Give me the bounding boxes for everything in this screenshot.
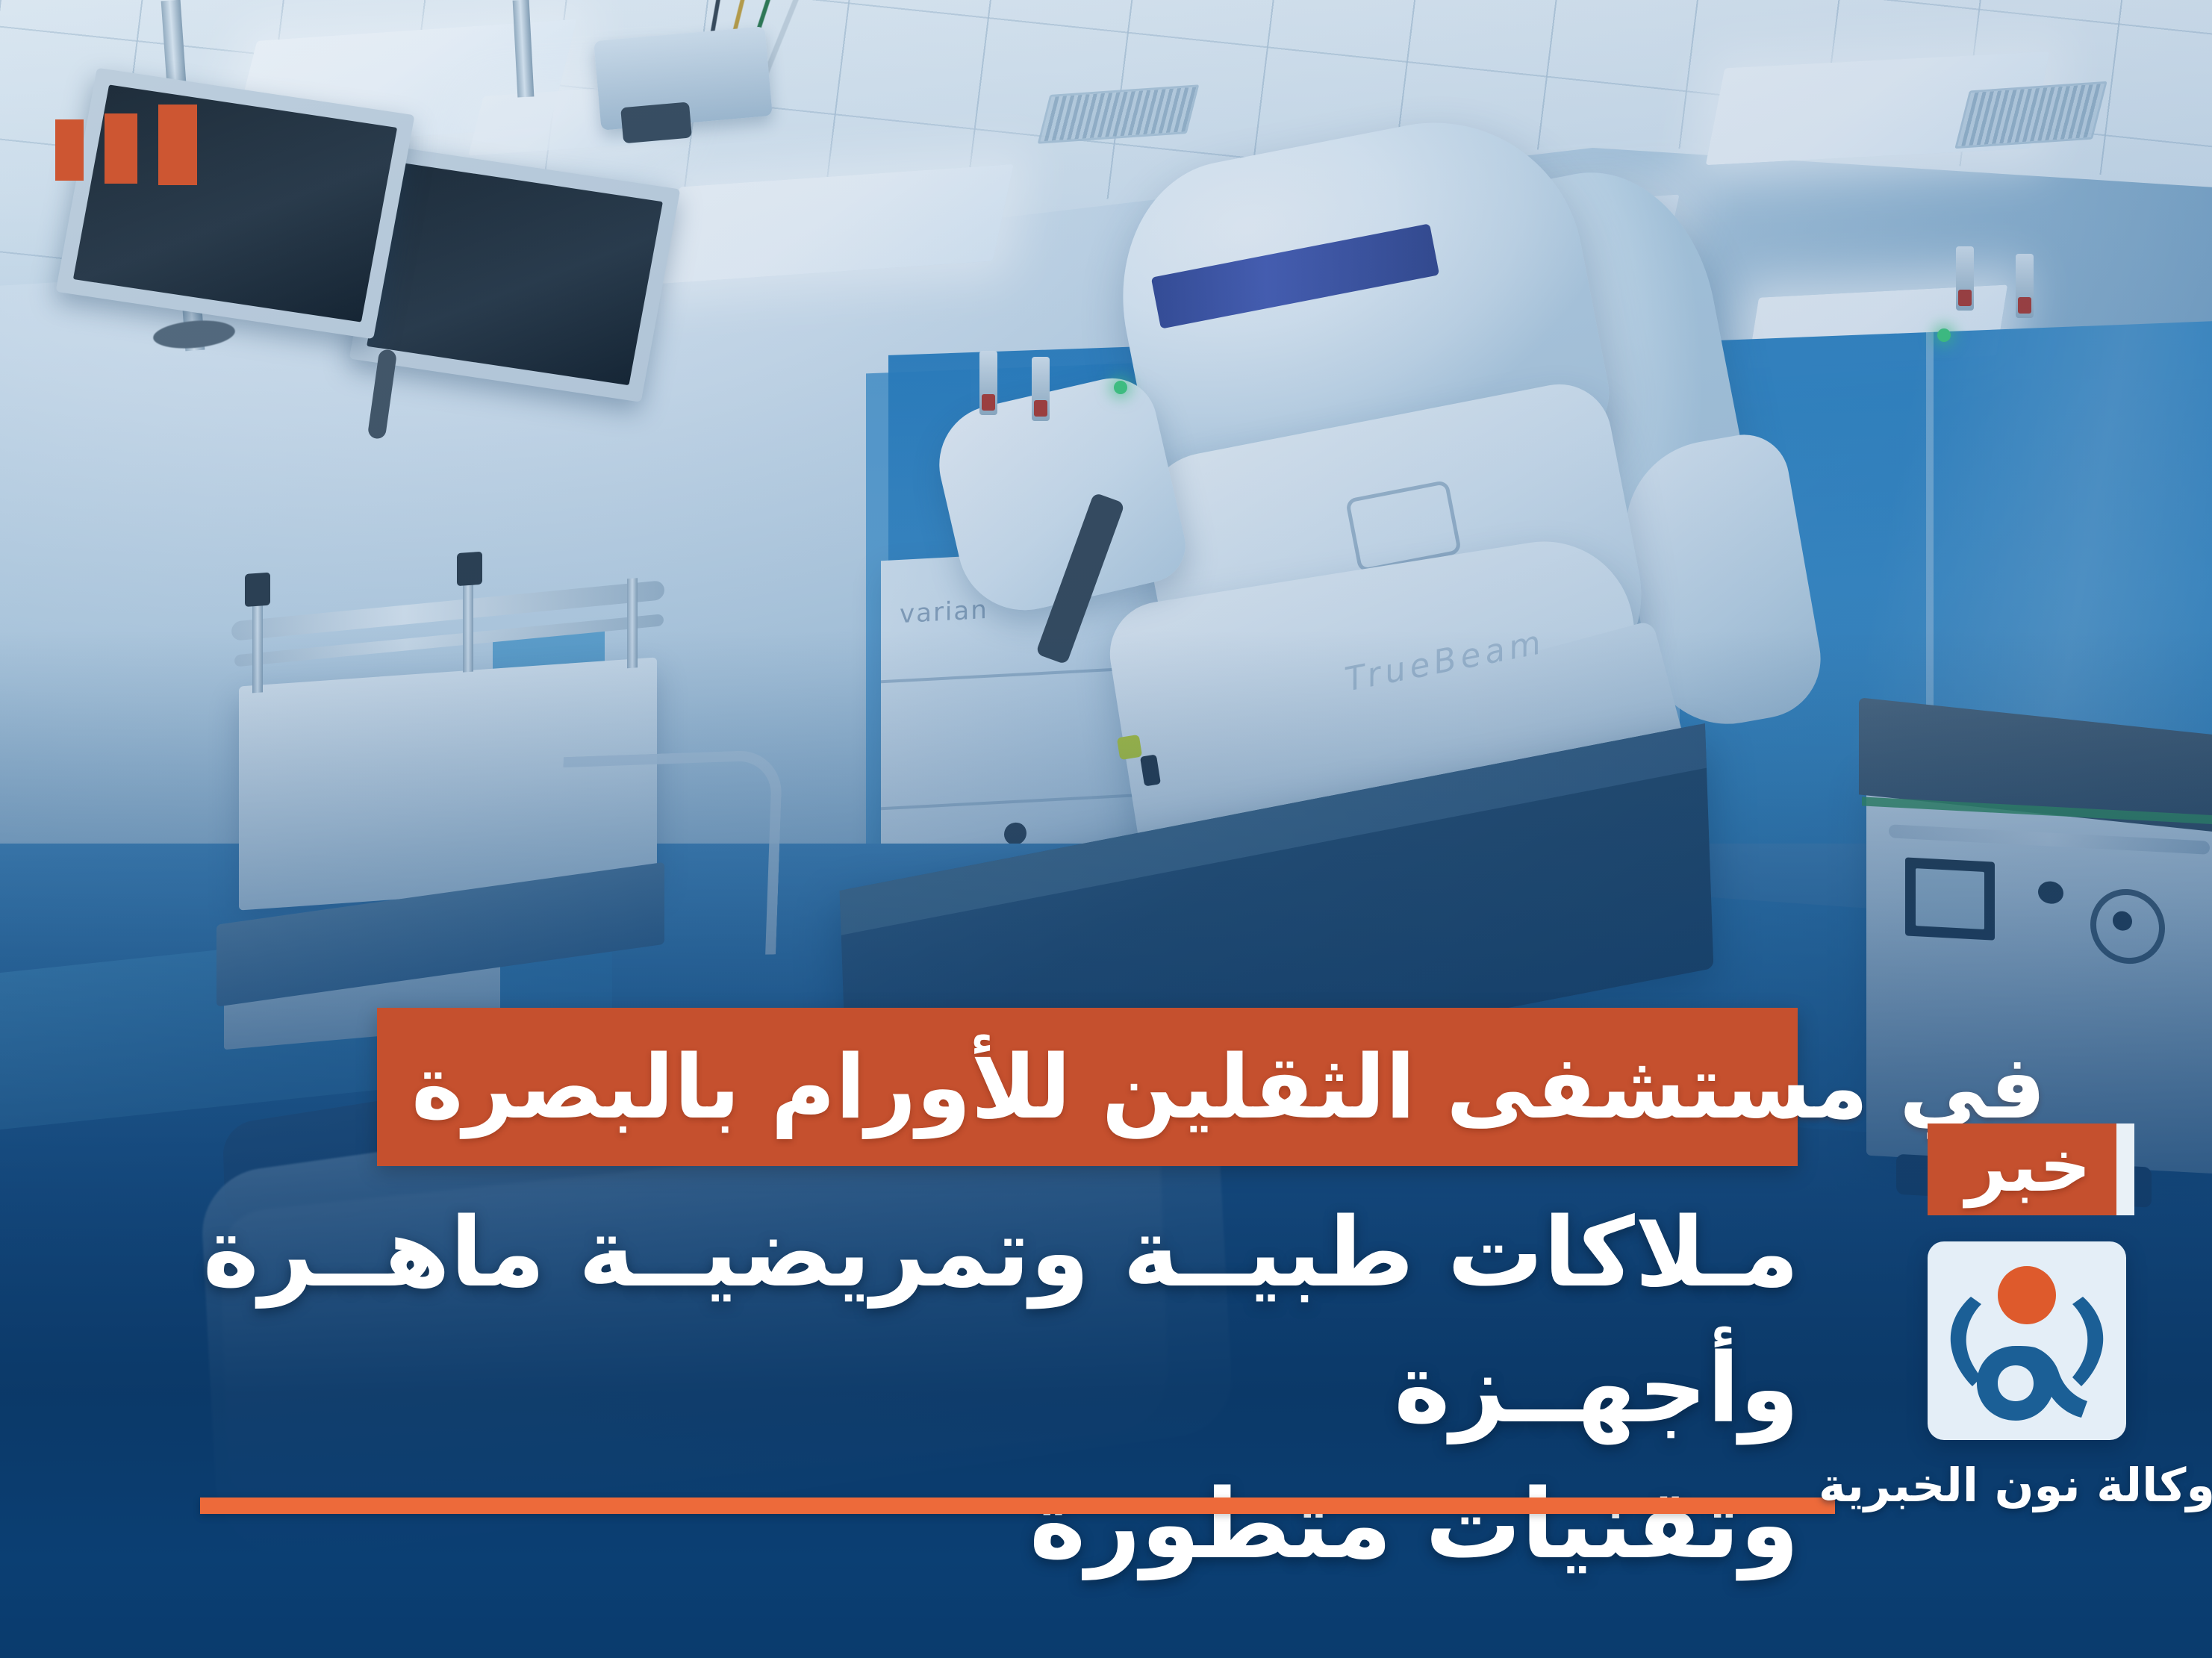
news-badge: خبر xyxy=(1928,1123,2129,1215)
headline-line-2: وتقنيات متطورة xyxy=(90,1457,1799,1593)
news-badge-label: خبر xyxy=(1966,1130,2091,1209)
orange-divider-rule xyxy=(200,1498,1835,1514)
kicker-banner: في مستشفى الثقلين للأورام بالبصرة xyxy=(377,1008,1798,1166)
headline: مـلاكات طبيــة وتمريضيــة ماهــرة وأجهــ… xyxy=(90,1185,1799,1592)
headline-line-1: مـلاكات طبيــة وتمريضيــة ماهــرة وأجهــ… xyxy=(90,1185,1799,1457)
accent-bar xyxy=(158,105,197,185)
agency-logo[interactable] xyxy=(1928,1241,2126,1440)
logo-right-arm xyxy=(2072,1297,2103,1386)
agency-name: وكالة نون الخبرية xyxy=(1834,1458,2212,1512)
accent-bar xyxy=(55,119,84,181)
logo-left-arm xyxy=(1951,1297,1981,1386)
news-badge-edge xyxy=(2116,1123,2134,1215)
news-card: varian TrueBeam xyxy=(0,0,2212,1658)
kicker-text: في مستشفى الثقلين للأورام بالبصرة xyxy=(411,1043,2046,1131)
corner-accent-bars xyxy=(55,105,197,185)
logo-head-circle xyxy=(1998,1266,2056,1324)
accent-bar xyxy=(105,113,137,184)
logo-nun-loop xyxy=(1977,1346,2087,1421)
brand-block: خبر وكالة نون الخبرية xyxy=(1864,1123,2185,1571)
